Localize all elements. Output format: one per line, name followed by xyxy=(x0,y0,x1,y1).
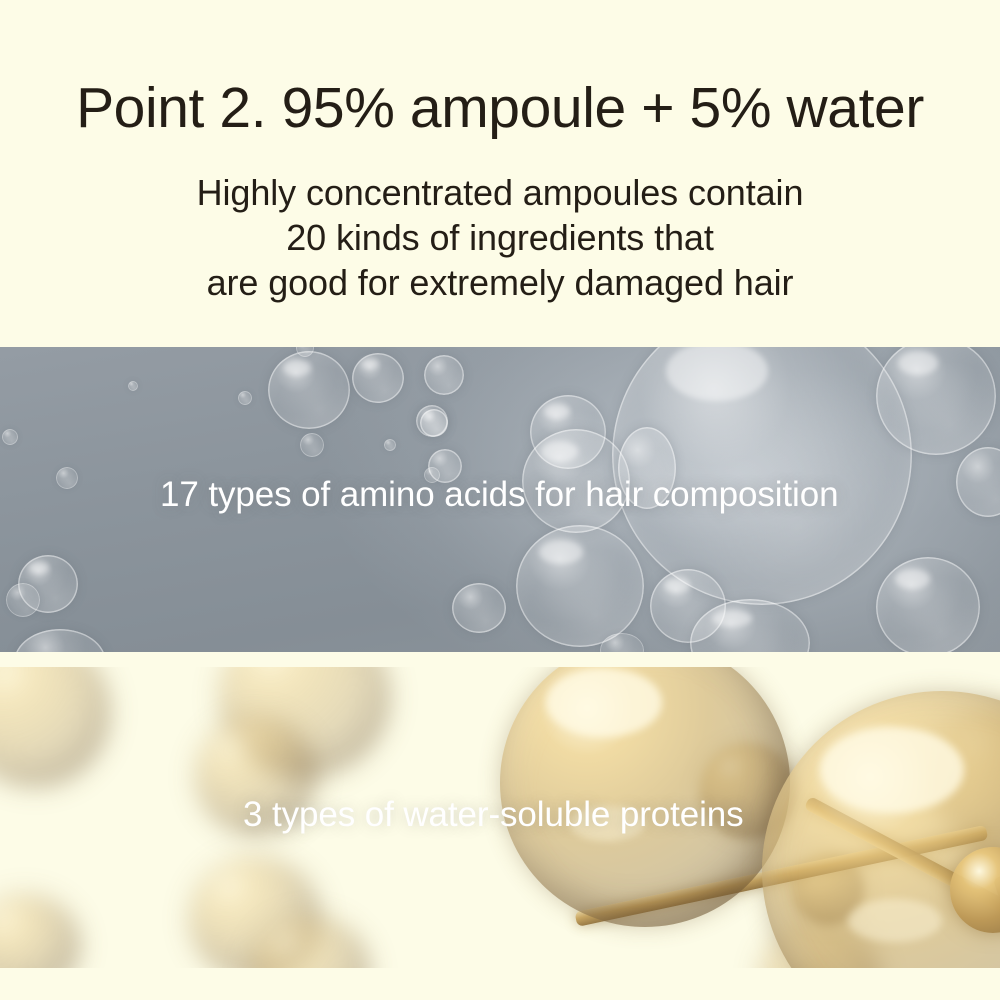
water-soluble-proteins-image-band: 3 types of water-soluble proteins xyxy=(0,667,1000,968)
bubble-top-mid xyxy=(352,353,404,403)
bubble-tiny-d xyxy=(300,433,324,457)
amino-acids-image-band: 17 types of amino acids for hair composi… xyxy=(0,347,1000,652)
bubble-highlight xyxy=(712,610,753,628)
bubble-highlight xyxy=(544,404,570,419)
band-caption-water-soluble-proteins: 3 types of water-soluble proteins xyxy=(243,795,744,835)
promo-graphic: Point 2. 95% ampoule + 5% water Highly c… xyxy=(0,0,1000,1000)
molecule-specular-highlight xyxy=(820,727,964,813)
bubble-highlight xyxy=(29,562,49,574)
bubble-highlight xyxy=(539,540,583,564)
molecule-specular-highlight xyxy=(546,668,662,737)
bubble-tiny-e xyxy=(56,467,78,489)
bubble-highlight xyxy=(898,351,939,375)
bubble-highlight xyxy=(666,347,768,401)
footer-spacer xyxy=(0,968,1000,1000)
bubble-top-left-pair xyxy=(268,351,350,429)
bubble-lower-right-a xyxy=(876,557,980,652)
molecule-sphere-right-focus xyxy=(762,691,1000,968)
bubble-tiny-b xyxy=(238,391,252,405)
bubble-lower-left-small xyxy=(6,583,40,617)
bubble-tiny-c xyxy=(128,381,138,391)
molecule-sphere-bg-bottomleft2 xyxy=(0,895,80,968)
molecule-sphere-bg-left xyxy=(0,667,110,787)
bubble-highlight xyxy=(664,578,690,593)
bubble-highlight xyxy=(541,441,578,462)
subtitle-line-2: 20 kinds of ingredients that xyxy=(0,215,1000,260)
subtitle-block: Highly concentrated ampoules contain 20 … xyxy=(0,170,1000,305)
bubble-tiny-f xyxy=(2,429,18,445)
bubble-highlight xyxy=(361,359,379,369)
bubble-right-edge-mid xyxy=(956,447,1000,517)
bubble-tiny-h xyxy=(384,439,396,451)
molecule-specular-highlight-secondary xyxy=(848,899,942,942)
band-divider xyxy=(0,652,1000,667)
bubble-highlight xyxy=(283,360,311,376)
bubble-mid-upper xyxy=(424,355,464,395)
page-title: Point 2. 95% ampoule + 5% water xyxy=(0,79,1000,139)
bubble-bottom-left-edge xyxy=(14,629,106,652)
header-text-block: Point 2. 95% ampoule + 5% water Highly c… xyxy=(0,0,1000,347)
bubble-small-right-a xyxy=(420,409,448,437)
bubble-lower-right-small xyxy=(452,583,506,633)
band-caption-amino-acids: 17 types of amino acids for hair composi… xyxy=(160,475,838,515)
bubble-top-right xyxy=(876,347,996,455)
bubble-highlight xyxy=(895,569,930,589)
bubble-lower-mid-a xyxy=(516,525,644,647)
subtitle-line-1: Highly concentrated ampoules contain xyxy=(0,170,1000,215)
subtitle-line-3: are good for extremely damaged hair xyxy=(0,260,1000,305)
